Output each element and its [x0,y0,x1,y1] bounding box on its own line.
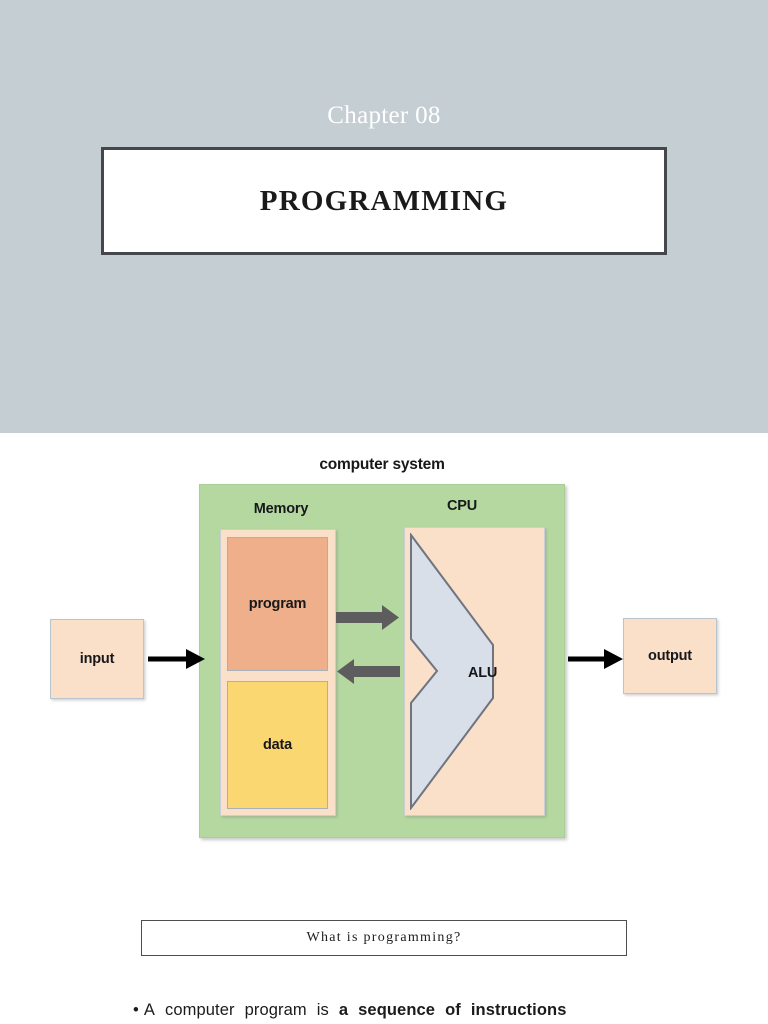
memory-block-data: data [227,681,328,809]
bullet-word-2: computer [165,1001,235,1019]
io-block-input: input [50,619,144,699]
bullet-marker: • [133,1001,139,1019]
question-box: What is programming? [141,920,627,956]
computer-system-diagram: computer system Memory CPU program data … [0,433,768,853]
bullet-word-1: A [144,1001,155,1019]
bullet-bold-3: of [445,1001,461,1019]
title-box: PROGRAMMING [101,147,667,255]
diagram-caption: computer system [199,456,565,474]
chapter-label: Chapter 08 [0,103,768,128]
bullet-word-3: program [245,1001,307,1019]
memory-label: Memory [231,501,331,517]
question-text: What is programming? [306,930,461,946]
arrow-input-to-system [148,649,205,669]
cpu-label: CPU [412,498,512,514]
content-slide: computer system Memory CPU program data … [0,433,768,1024]
page-title: PROGRAMMING [260,185,508,218]
bullet-bold-4: instructions [471,1001,567,1019]
memory-block-program: program [227,537,328,671]
bullet-word-4: is [317,1001,329,1019]
bullet-list-item: •Acomputerprogramisasequenceofinstructio… [133,1000,638,1021]
alu-label: ALU [468,665,497,681]
io-block-output: output [623,618,717,694]
title-slide: Chapter 08 PROGRAMMING [0,0,768,433]
bullet-bold-2: sequence [358,1001,435,1019]
arrow-system-to-output [568,649,623,669]
bullet-bold-1: a [339,1001,348,1019]
